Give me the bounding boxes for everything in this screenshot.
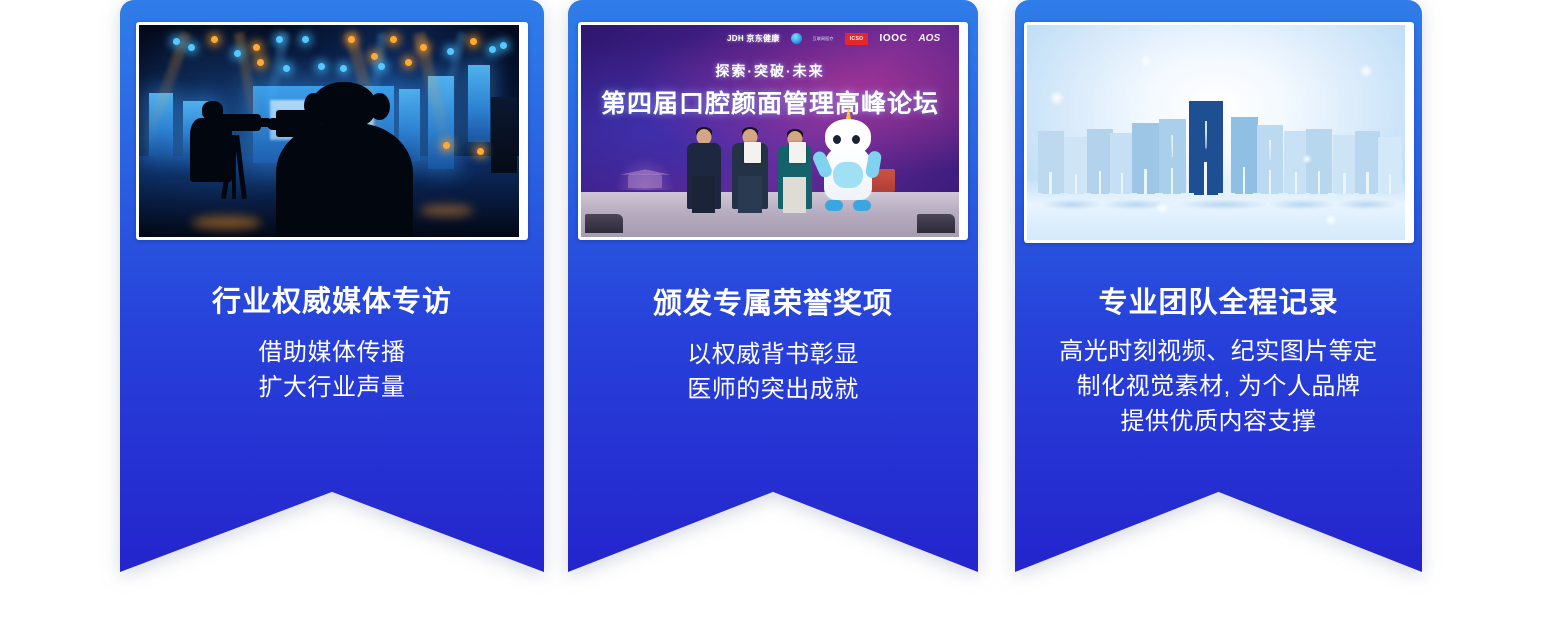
card-text-block: 行业权威媒体专访 借助媒体传播 扩大行业声量 <box>120 240 544 405</box>
partner-circle-logo-label: 互联网医疗 <box>813 36 834 42</box>
card-text-block: 颁发专属荣誉奖项 以权威背书彰显 医师的突出成就 <box>568 240 978 407</box>
ribbon-shape: JDH 京东健康 互联网医疗 ICSO IOOC AOS 探索·突破·未来 第四… <box>568 0 978 572</box>
feature-card-team-record[interactable]: 专业团队全程记录 高光时刻视频、纪实图片等定 制化视觉素材, 为个人品牌 提供优… <box>1015 0 1422 572</box>
partner-circle-logo-icon <box>791 33 802 44</box>
ribbon-shape: 专业团队全程记录 高光时刻视频、纪实图片等定 制化视觉素材, 为个人品牌 提供优… <box>1015 0 1422 572</box>
tv-studio-camera-crew-photo <box>139 25 519 237</box>
desc-line: 提供优质内容支撑 <box>1025 404 1412 439</box>
desc-line: 借助媒体传播 <box>130 335 534 370</box>
photo-frame <box>1024 22 1414 243</box>
award-certificate <box>789 142 806 163</box>
card-title: 专业团队全程记录 <box>1025 289 1412 318</box>
award-certificate <box>744 142 761 163</box>
desc-line: 制化视觉素材, 为个人品牌 <box>1025 369 1412 404</box>
ribbon-shape: 行业权威媒体专访 借助媒体传播 扩大行业声量 <box>120 0 544 572</box>
stage-main-title: 第四届口腔颜面管理高峰论坛 <box>581 84 959 120</box>
card-description: 借助媒体传播 扩大行业声量 <box>130 335 534 405</box>
stage-headline: 探索·突破·未来 <box>581 61 959 81</box>
card-title: 行业权威媒体专访 <box>130 288 534 317</box>
card-description: 高光时刻视频、纪实图片等定 制化视觉素材, 为个人品牌 提供优质内容支撑 <box>1025 334 1412 439</box>
person-silhouette <box>687 129 721 209</box>
desc-line: 扩大行业声量 <box>130 370 534 405</box>
unicorn-mascot <box>819 111 877 209</box>
feature-card-honor-award[interactable]: JDH 京东健康 互联网医疗 ICSO IOOC AOS 探索·突破·未来 第四… <box>568 0 978 572</box>
desc-line: 医师的突出成就 <box>578 372 968 407</box>
photo-frame <box>136 22 528 240</box>
stage-logo-bar: JDH 京东健康 互联网医疗 ICSO IOOC AOS <box>581 29 959 48</box>
card-text-block: 专业团队全程记录 高光时刻视频、纪实图片等定 制化视觉素材, 为个人品牌 提供优… <box>1015 243 1422 439</box>
desc-line: 以权威背书彰显 <box>578 337 968 372</box>
icso-logo: ICSO <box>845 33 869 45</box>
aos-logo: AOS <box>918 33 940 44</box>
feature-card-media-interview[interactable]: 行业权威媒体专访 借助媒体传播 扩大行业声量 <box>120 0 544 572</box>
iooc-logo: IOOC <box>879 33 907 44</box>
desc-line: 高光时刻视频、纪实图片等定 <box>1025 334 1412 369</box>
business-team-silhouette-photo <box>1027 25 1405 240</box>
jdh-logo: JDH 京东健康 <box>727 33 780 44</box>
photo-frame: JDH 京东健康 互联网医疗 ICSO IOOC AOS 探索·突破·未来 第四… <box>578 22 968 240</box>
card-title: 颁发专属荣誉奖项 <box>578 290 968 319</box>
forum-award-ceremony-photo: JDH 京东健康 互联网医疗 ICSO IOOC AOS 探索·突破·未来 第四… <box>581 25 959 237</box>
feature-cards-board: 行业权威媒体专访 借助媒体传播 扩大行业声量 JDH 京东健康 互联网医疗 IC… <box>0 0 1550 624</box>
card-description: 以权威背书彰显 医师的突出成就 <box>578 337 968 407</box>
